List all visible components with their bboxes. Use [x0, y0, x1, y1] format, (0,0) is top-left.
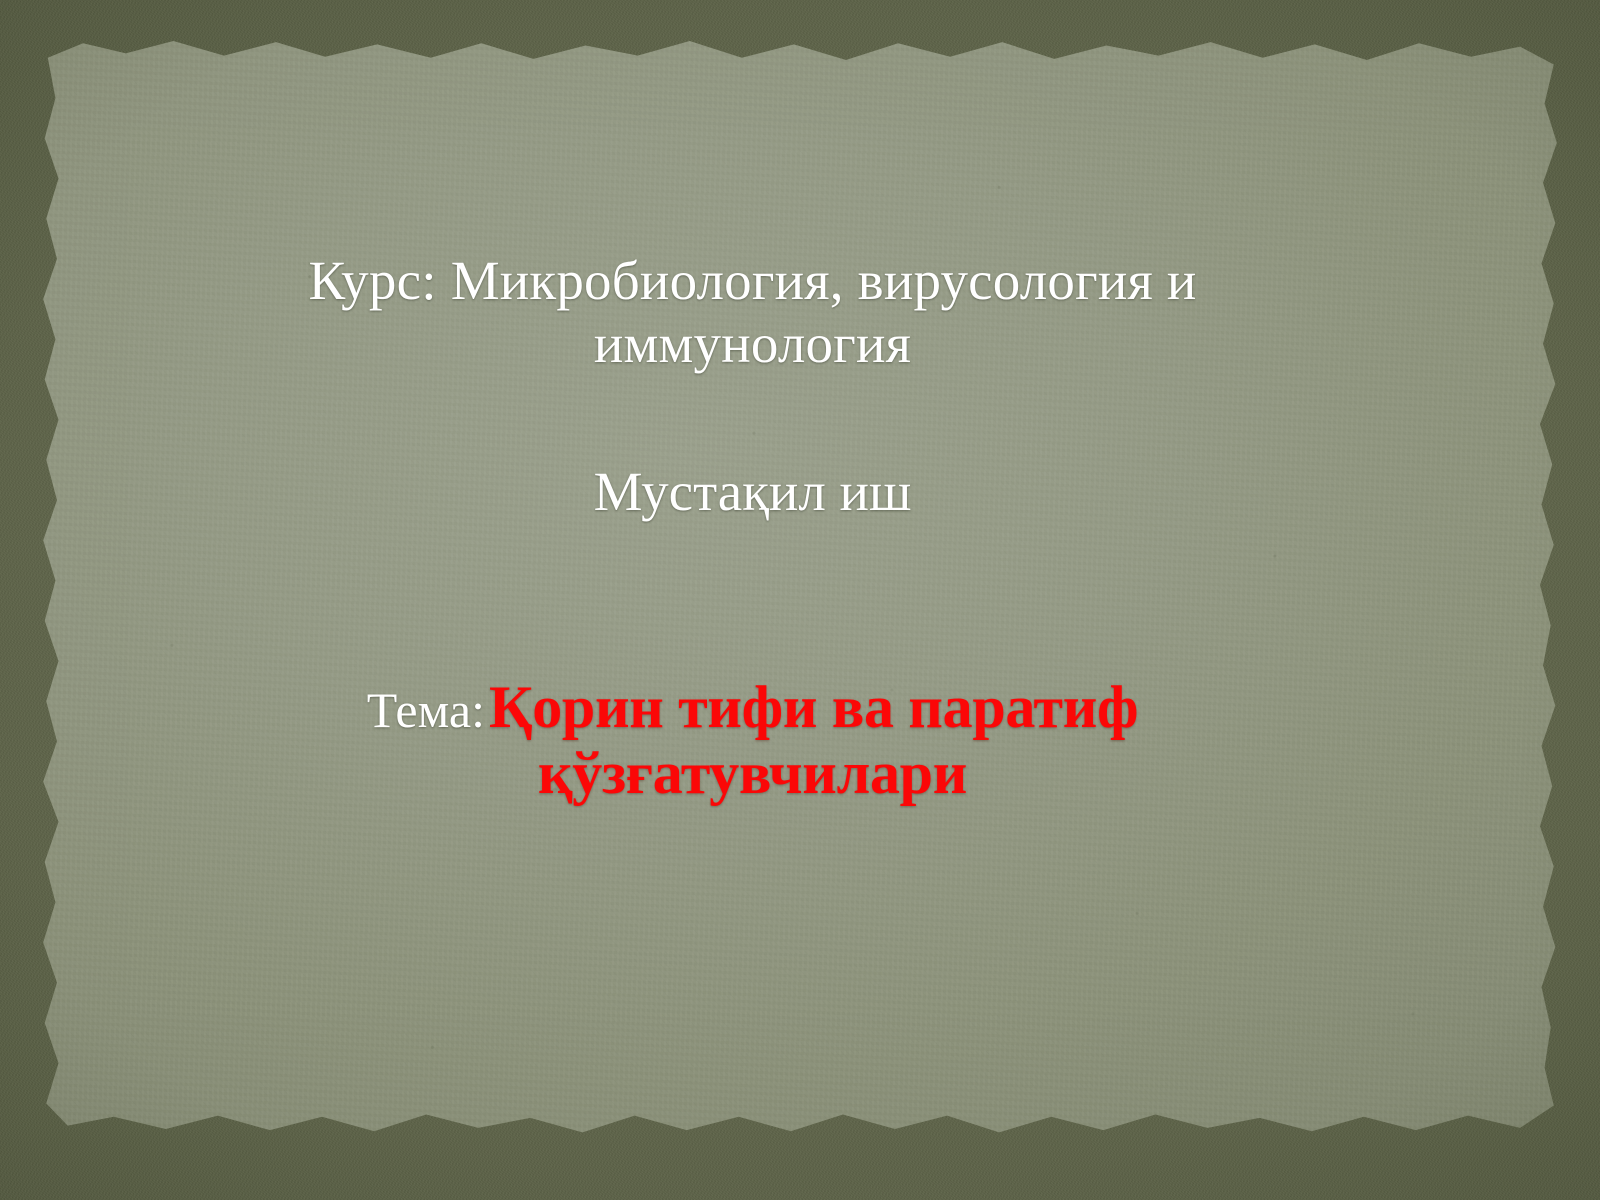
topic-value-line-2: қўзғатувчилари [538, 740, 967, 806]
course-label: Курс: [308, 250, 436, 311]
topic-heading: Тема: Қорин тифи ва паратиф қўзғатувчила… [250, 674, 1255, 806]
topic-value-line-1: Қорин тифи ва паратиф [489, 674, 1138, 740]
spacer-assignment-to-topic [250, 524, 1255, 674]
topic-label: Тема: [367, 682, 485, 738]
course-heading: Курс:Микробиология, вирусология и иммуно… [250, 250, 1255, 375]
course-value-line-1: Микробиология, вирусология и [451, 250, 1197, 311]
course-value-line-2: иммунология [594, 313, 911, 374]
slide-text-block: Курс:Микробиология, вирусология и иммуно… [250, 250, 1255, 806]
spacer-course-to-assignment [250, 375, 1255, 461]
presentation-slide: Курс:Микробиология, вирусология и иммуно… [0, 0, 1600, 1200]
assignment-heading: Мустақил иш [250, 461, 1255, 524]
